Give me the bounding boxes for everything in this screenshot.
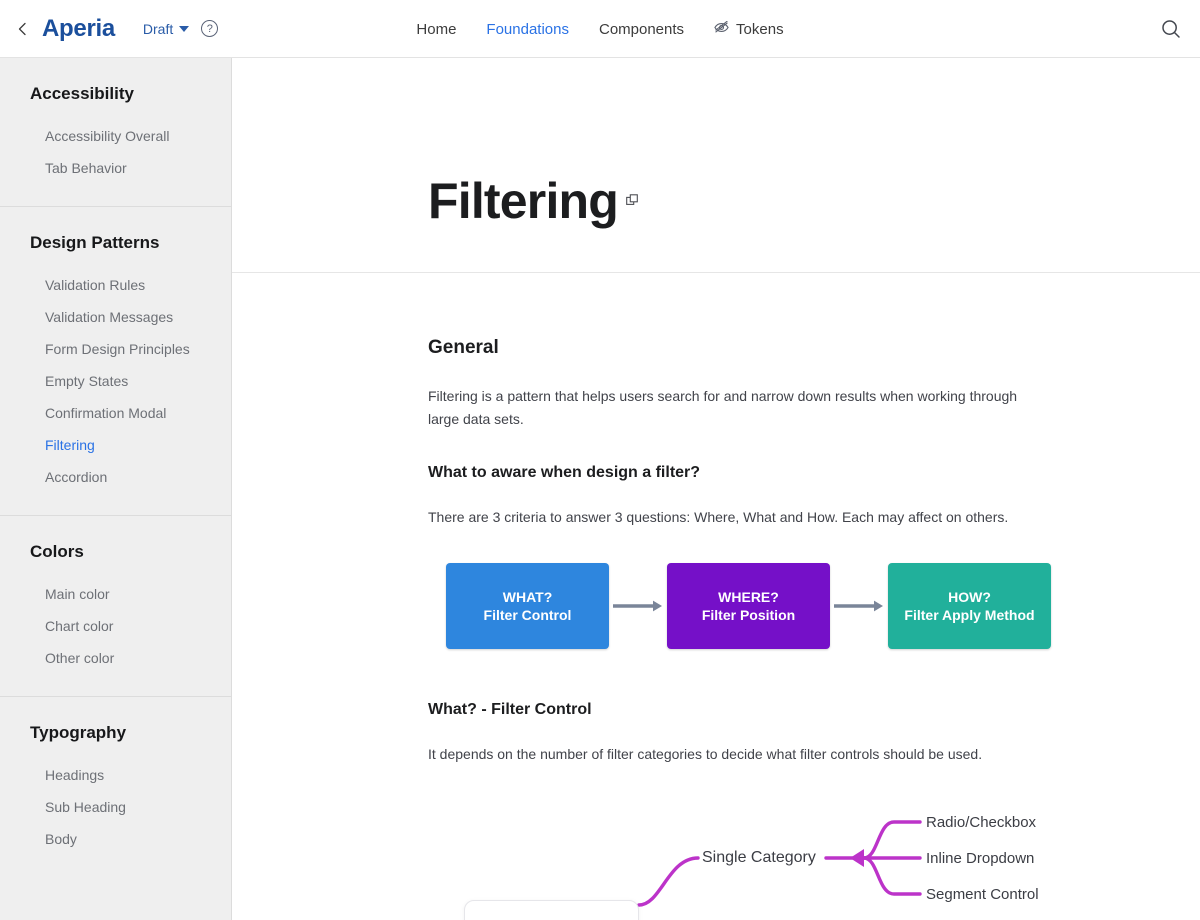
search-icon[interactable] <box>1160 18 1184 42</box>
sidebar-group-accessibility: Accessibility Accessibility Overall Tab … <box>0 58 231 207</box>
sidebar-item-chart-color[interactable]: Chart color <box>0 610 231 642</box>
sidebar-item-validation-messages[interactable]: Validation Messages <box>0 301 231 333</box>
page-title: Filtering <box>428 176 618 226</box>
flow-box-subject: Filter Position <box>702 607 795 623</box>
status-badge: Draft <box>143 21 173 37</box>
flow-box-where: WHERE? Filter Position <box>667 563 830 649</box>
page-body: General Filtering is a pattern that help… <box>232 273 1200 920</box>
main-content: Filtering General Filtering is a pattern… <box>232 58 1200 920</box>
flow-box-what: WHAT? Filter Control <box>446 563 609 649</box>
nav-item-home[interactable]: Home <box>416 21 456 38</box>
sidebar-item-validation-rules[interactable]: Validation Rules <box>0 269 231 301</box>
mindmap-leaf-segment-control: Segment Control <box>926 886 1039 903</box>
nav-item-label: Tokens <box>736 21 784 38</box>
brand-logo[interactable]: Aperia <box>42 15 115 43</box>
nav-item-label: Components <box>599 21 684 38</box>
nav-item-label: Home <box>416 21 456 38</box>
sidebar-item-main-color[interactable]: Main color <box>0 578 231 610</box>
question-circle-icon[interactable]: ? <box>201 20 218 37</box>
nav-item-label: Foundations <box>486 21 569 38</box>
sidebar-group-colors: Colors Main color Chart color Other colo… <box>0 516 231 697</box>
sidebar-group-typography: Typography Headings Sub Heading Body <box>0 697 231 877</box>
nav-item-tokens[interactable]: Tokens <box>714 21 784 38</box>
chevron-down-icon[interactable] <box>179 26 189 32</box>
arrow-right-icon <box>830 597 888 615</box>
nav-item-foundations[interactable]: Foundations <box>486 21 569 38</box>
flow-box-subject: Filter Apply Method <box>904 607 1034 623</box>
section-heading-aware: What to aware when design a filter? <box>428 464 1200 482</box>
sidebar-group-title: Colors <box>0 542 231 578</box>
sidebar-item-other-color[interactable]: Other color <box>0 642 231 674</box>
sidebar-item-empty-states[interactable]: Empty States <box>0 365 231 397</box>
flow-box-question: HOW? <box>948 589 991 605</box>
sidebar-item-headings[interactable]: Headings <box>0 759 231 791</box>
nav-item-components[interactable]: Components <box>599 21 684 38</box>
arrow-right-icon <box>609 597 667 615</box>
section-paragraph-aware: There are 3 criteria to answer 3 questio… <box>428 506 1028 529</box>
sidebar-item-tab-behavior[interactable]: Tab Behavior <box>0 152 231 184</box>
section-heading-general: General <box>428 337 1200 359</box>
sidebar-item-form-design-principles[interactable]: Form Design Principles <box>0 333 231 365</box>
duplicate-icon[interactable] <box>626 194 639 212</box>
sidebar-item-accessibility-overall[interactable]: Accessibility Overall <box>0 120 231 152</box>
flow-diagram: WHAT? Filter Control WHERE? Filter Posit… <box>446 563 1200 649</box>
flow-box-how: HOW? Filter Apply Method <box>888 563 1051 649</box>
status-dropdown[interactable]: Draft ? <box>143 20 218 37</box>
sidebar-item-accordion[interactable]: Accordion <box>0 461 231 493</box>
sidebar-item-body[interactable]: Body <box>0 823 231 855</box>
sidebar-group-title: Typography <box>0 723 231 759</box>
sidebar-group-design-patterns: Design Patterns Validation Rules Validat… <box>0 207 231 516</box>
section-heading-what-filter-control: What? - Filter Control <box>428 701 1200 719</box>
mindmap-root-node: Filter Controls <box>464 900 639 920</box>
sidebar-item-confirmation-modal[interactable]: Confirmation Modal <box>0 397 231 429</box>
sidebar-item-filtering[interactable]: Filtering <box>0 429 231 461</box>
mindmap-leaf-inline-dropdown: Inline Dropdown <box>926 850 1034 867</box>
mindmap-diagram: Filter Controls Single Category Radio/Ch… <box>446 800 1200 920</box>
mindmap-leaf-radio-checkbox: Radio/Checkbox <box>926 814 1036 831</box>
mindmap-branch-single-category: Single Category <box>702 849 816 867</box>
flow-box-question: WHAT? <box>503 589 553 605</box>
flow-box-subject: Filter Control <box>484 607 572 623</box>
section-paragraph-general: Filtering is a pattern that helps users … <box>428 385 1028 430</box>
eye-slash-icon <box>714 21 729 38</box>
chevron-left-icon[interactable] <box>12 18 34 40</box>
sidebar-group-title: Accessibility <box>0 84 231 120</box>
page-header: Filtering <box>232 58 1200 273</box>
sidebar-group-title: Design Patterns <box>0 233 231 269</box>
sidebar-item-sub-heading[interactable]: Sub Heading <box>0 791 231 823</box>
flow-box-question: WHERE? <box>718 589 779 605</box>
section-paragraph-what-filter-control: It depends on the number of filter categ… <box>428 743 1028 766</box>
sidebar[interactable]: Accessibility Accessibility Overall Tab … <box>0 58 232 920</box>
